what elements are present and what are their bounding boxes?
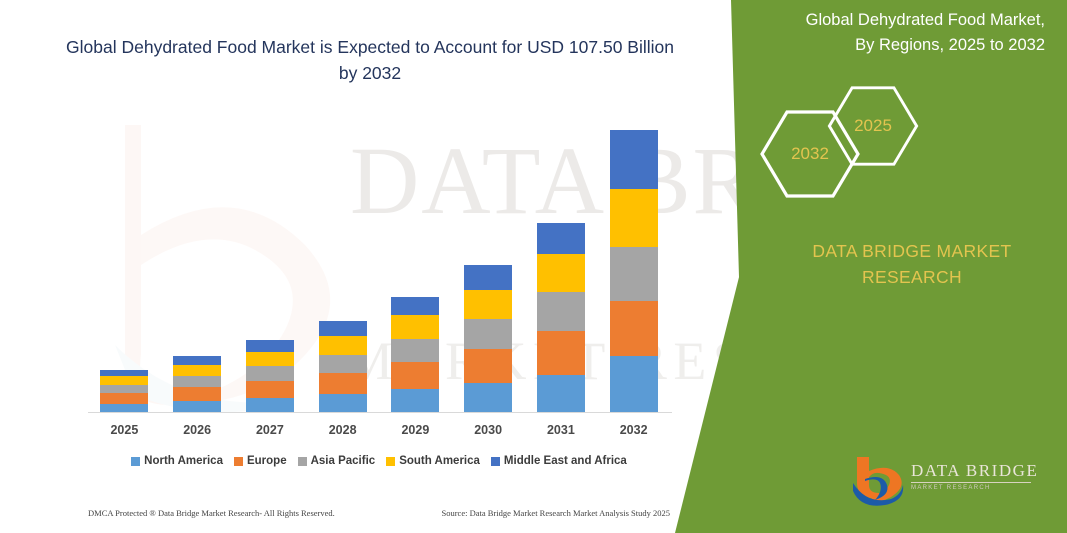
chart-bar-segment <box>391 362 439 388</box>
chart-bar-segment <box>537 254 585 292</box>
legend-swatch-icon <box>491 457 500 466</box>
chart-column <box>88 110 161 413</box>
legend-swatch-icon <box>234 457 243 466</box>
chart-bar-segment <box>319 355 367 373</box>
x-axis-label: 2028 <box>306 423 379 437</box>
chart-bar-segment <box>319 336 367 354</box>
legend-label: Middle East and Africa <box>504 455 627 467</box>
chart-column <box>525 110 598 413</box>
x-axis-label: 2029 <box>379 423 452 437</box>
chart-bar-segment <box>246 352 294 366</box>
footer-copyright: DMCA Protected ® Data Bridge Market Rese… <box>88 508 335 518</box>
legend-label: Asia Pacific <box>311 455 376 467</box>
chart-bar-segment <box>173 387 221 401</box>
chart-bar-segment <box>537 331 585 374</box>
chart-bar-segment <box>537 223 585 253</box>
chart-bar-segment <box>537 375 585 413</box>
chart-bar-segment <box>391 297 439 315</box>
x-axis-label: 2031 <box>525 423 598 437</box>
chart-bar <box>610 130 658 413</box>
x-axis-label: 2030 <box>452 423 525 437</box>
chart-bar-segment <box>537 292 585 332</box>
logo-wordmark: DATA BRIDGE <box>911 461 1038 481</box>
chart-bar-segment <box>391 339 439 363</box>
chart-column <box>161 110 234 413</box>
chart-bar <box>173 356 221 413</box>
chart-bar <box>319 321 367 413</box>
chart-columns <box>88 110 670 413</box>
hexagon-2032-label: 2032 <box>760 144 860 164</box>
legend-swatch-icon <box>131 457 140 466</box>
chart-column <box>306 110 379 413</box>
legend-item[interactable]: South America <box>386 455 480 467</box>
hexagon-group: 2025 2032 <box>667 92 1067 202</box>
chart-bar-segment <box>391 315 439 339</box>
chart-bar-segment <box>610 130 658 189</box>
chart-bar-segment <box>391 389 439 413</box>
right-green-panel: Global Dehydrated Food Market, By Region… <box>667 0 1067 533</box>
chart-bar-segment <box>464 319 512 349</box>
hexagon-2032: 2032 <box>760 110 860 198</box>
chart-bar-segment <box>610 189 658 247</box>
legend-label: Europe <box>247 455 287 467</box>
infographic-canvas: DATA BRIDGE MARKET RESEARCH Global Dehyd… <box>0 0 1067 533</box>
chart-bar <box>464 265 512 413</box>
legend-label: North America <box>144 455 223 467</box>
chart-column <box>597 110 670 413</box>
legend-item[interactable]: North America <box>131 455 223 467</box>
data-bridge-logo: DATA BRIDGE MARKET RESEARCH <box>849 455 1049 511</box>
x-axis-tick-labels: 20252026202720282029203020312032 <box>88 423 670 437</box>
chart-bar <box>246 340 294 413</box>
legend-item[interactable]: Europe <box>234 455 287 467</box>
chart-title: Global Dehydrated Food Market is Expecte… <box>60 34 680 86</box>
chart-plot-area <box>88 110 670 413</box>
chart-column <box>234 110 307 413</box>
x-axis-line <box>88 412 672 413</box>
chart-legend: North AmericaEuropeAsia PacificSouth Ame… <box>88 455 670 467</box>
chart-bar <box>391 297 439 413</box>
brand-name: DATA BRIDGE MARKET RESEARCH <box>667 238 1045 290</box>
chart-bar-segment <box>100 376 148 384</box>
chart-bar-segment <box>100 393 148 404</box>
x-axis-label: 2026 <box>161 423 234 437</box>
chart-bar-segment <box>319 321 367 336</box>
chart-bar-segment <box>464 383 512 413</box>
legend-item[interactable]: Asia Pacific <box>298 455 376 467</box>
chart-bar-segment <box>173 376 221 388</box>
chart-bar-segment <box>610 247 658 301</box>
chart-column <box>452 110 525 413</box>
x-axis-label: 2032 <box>597 423 670 437</box>
footer-source: Source: Data Bridge Market Research Mark… <box>441 508 670 518</box>
chart-bar-segment <box>246 340 294 352</box>
legend-swatch-icon <box>298 457 307 466</box>
x-axis-label: 2025 <box>88 423 161 437</box>
chart-bar-segment <box>246 398 294 413</box>
legend-swatch-icon <box>386 457 395 466</box>
legend-item[interactable]: Middle East and Africa <box>491 455 627 467</box>
chart-bar-segment <box>464 349 512 383</box>
chart-bar <box>100 370 148 413</box>
footer: DMCA Protected ® Data Bridge Market Rese… <box>88 508 670 518</box>
chart-bar-segment <box>246 381 294 398</box>
chart-column <box>379 110 452 413</box>
x-axis-label: 2027 <box>234 423 307 437</box>
chart-bar-segment <box>100 385 148 394</box>
chart-bar-segment <box>100 370 148 377</box>
logo-mark-icon <box>849 455 909 507</box>
chart-bar-segment <box>173 365 221 376</box>
chart-bar-segment <box>246 366 294 380</box>
chart-bar-segment <box>610 356 658 413</box>
legend-label: South America <box>399 455 480 467</box>
chart-bar-segment <box>173 356 221 365</box>
panel-title: Global Dehydrated Food Market, By Region… <box>667 8 1045 58</box>
chart-bar-segment <box>464 290 512 319</box>
chart-bar-segment <box>610 301 658 356</box>
chart-bar-segment <box>319 373 367 394</box>
chart-bar-segment <box>319 394 367 413</box>
chart-bar <box>537 223 585 413</box>
logo-divider <box>911 482 1031 483</box>
logo-tagline: MARKET RESEARCH <box>911 485 991 491</box>
chart-bar-segment <box>464 265 512 289</box>
